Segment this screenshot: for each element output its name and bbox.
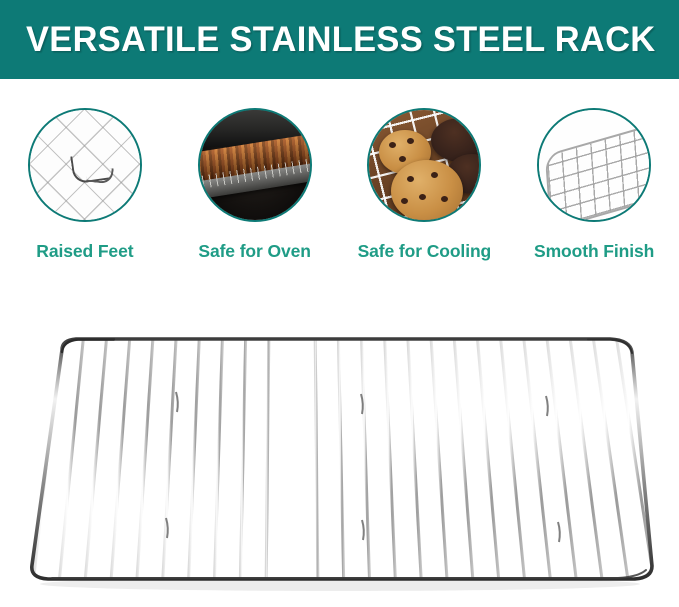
product-image-area — [0, 300, 679, 607]
feature-item-safe-for-oven: Safe for Oven — [170, 108, 340, 262]
feature-item-safe-for-cooling: Safe for Cooling — [340, 108, 510, 262]
angled-rack-icon — [537, 108, 651, 222]
feature-label-safe-for-cooling: Safe for Cooling — [358, 241, 492, 262]
wire-rack-illustration — [18, 322, 663, 594]
oven-bacon-icon — [198, 108, 312, 222]
feature-label-raised-feet: Raised Feet — [36, 241, 133, 262]
product-wire-rack — [18, 322, 663, 594]
wire-grid-foot-icon — [28, 108, 142, 222]
feature-label-safe-for-oven: Safe for Oven — [198, 241, 310, 262]
feature-strip: Raised Feet Safe for Oven — [0, 108, 679, 262]
feature-item-raised-feet: Raised Feet — [0, 108, 170, 262]
feature-item-smooth-finish: Smooth Finish — [509, 108, 679, 262]
cookies-cooling-rack-icon — [367, 108, 481, 222]
feature-label-smooth-finish: Smooth Finish — [534, 241, 654, 262]
header-banner: VERSATILE STAINLESS STEEL RACK — [0, 0, 679, 79]
page-title: VERSATILE STAINLESS STEEL RACK — [26, 22, 655, 57]
